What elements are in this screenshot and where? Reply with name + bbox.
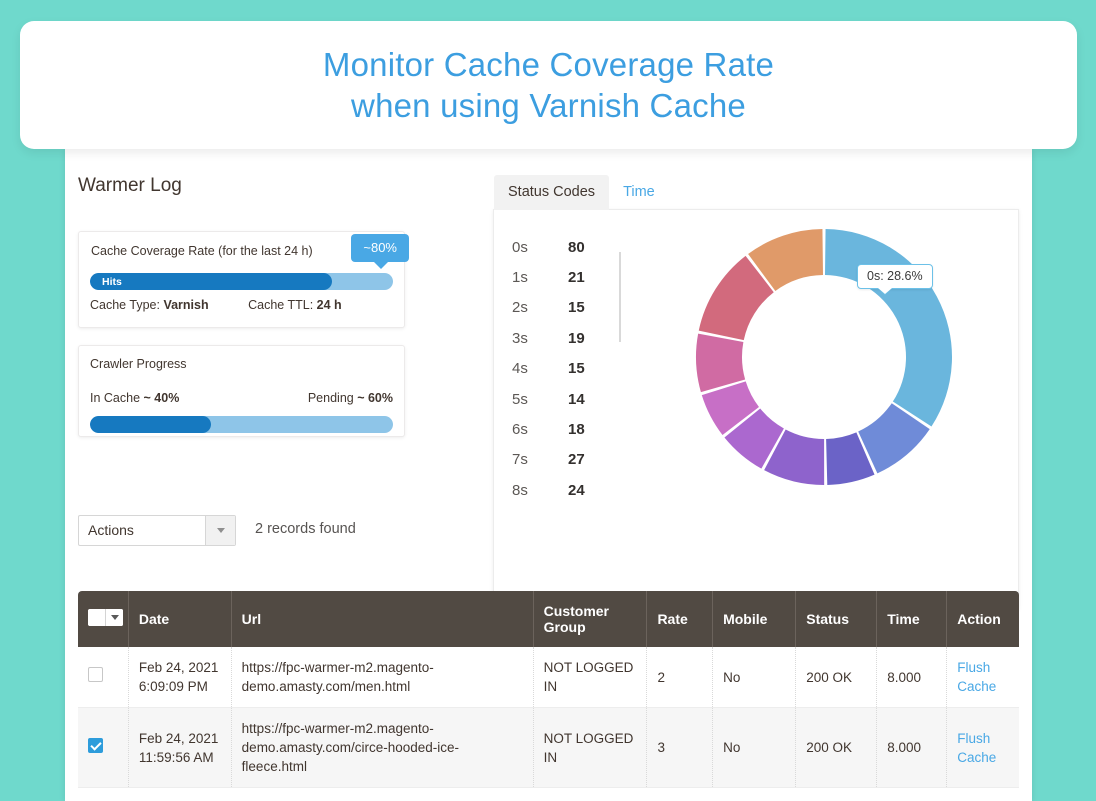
chart-tabs: Status CodesTime	[494, 170, 669, 210]
status-code-row: 7s27	[512, 445, 622, 475]
crawler-in-cache: In Cache ~ 40%	[90, 391, 179, 405]
cell-status: 200 OK	[796, 647, 877, 708]
table-header-action[interactable]: Action	[947, 591, 1019, 647]
flush-cache-link[interactable]: Flush Cache	[957, 660, 996, 694]
table-row[interactable]: Feb 24, 202111:59:56 AMhttps://fpc-warme…	[78, 708, 1019, 788]
actions-dropdown[interactable]: Actions	[78, 515, 236, 546]
table-header-rate[interactable]: Rate	[647, 591, 713, 647]
crawler-pending-label: Pending	[308, 391, 354, 405]
cell-url: https://fpc-warmer-m2.magento-demo.amast…	[231, 708, 533, 788]
status-code-key: 4s	[512, 360, 568, 377]
row-checkbox[interactable]	[88, 667, 103, 682]
status-code-value: 18	[568, 421, 585, 438]
table-header-customer-group[interactable]: Customer Group	[533, 591, 647, 647]
status-code-row: 0s80	[512, 232, 622, 262]
row-select-cell[interactable]	[78, 708, 128, 788]
status-code-value: 15	[568, 360, 585, 377]
actions-dropdown-label: Actions	[88, 522, 134, 538]
crawler-progress-card: Crawler Progress In Cache ~ 40% Pending …	[78, 345, 405, 437]
chevron-down-icon	[111, 615, 119, 620]
status-code-value: 27	[568, 451, 585, 468]
donut-segment[interactable]	[696, 334, 745, 392]
status-code-key: 2s	[512, 299, 568, 316]
table-header-mobile[interactable]: Mobile	[713, 591, 796, 647]
crawler-pending: Pending ~ 60%	[308, 391, 393, 405]
status-codes-list: 0s801s212s153s194s155s146s187s278s24	[512, 232, 622, 506]
status-code-value: 80	[568, 239, 585, 256]
flush-cache-link[interactable]: Flush Cache	[957, 731, 996, 765]
table-header-time[interactable]: Time	[877, 591, 947, 647]
cell-url: https://fpc-warmer-m2.magento-demo.amast…	[231, 647, 533, 708]
donut-center-hole	[754, 287, 894, 427]
status-code-row: 5s14	[512, 384, 622, 414]
warmer-log-table: Date Url Customer Group Rate Mobile Stat…	[78, 591, 1019, 788]
page-sheet: Warmer Log Cache Coverage Rate (for the …	[65, 148, 1032, 801]
cell-customer-group: NOT LOGGED IN	[533, 647, 647, 708]
cell-status: 200 OK	[796, 708, 877, 788]
tab-time[interactable]: Time	[609, 175, 669, 210]
cell-time: 8.000	[877, 708, 947, 788]
row-checkbox[interactable]	[88, 738, 103, 753]
select-all-checkbox[interactable]	[88, 609, 105, 626]
cache-type-label: Cache Type:	[90, 298, 160, 312]
cell-action: Flush Cache	[947, 708, 1019, 788]
table-row[interactable]: Feb 24, 20216:09:09 PMhttps://fpc-warmer…	[78, 647, 1019, 708]
page-title: Warmer Log	[78, 175, 182, 197]
status-code-row: 8s24	[512, 475, 622, 505]
status-code-value: 21	[568, 269, 585, 286]
status-code-row: 2s15	[512, 293, 622, 323]
cache-coverage-bar-fill	[90, 273, 332, 290]
status-code-value: 14	[568, 391, 585, 408]
crawler-pending-value: ~ 60%	[357, 391, 393, 405]
status-code-value: 15	[568, 299, 585, 316]
hero-title: Monitor Cache Coverage Rate when using V…	[323, 44, 774, 126]
row-select-cell[interactable]	[78, 647, 128, 708]
table-header-date[interactable]: Date	[128, 591, 231, 647]
cache-coverage-bar-label: Hits	[102, 274, 122, 290]
cache-ttl-value: 24 h	[317, 298, 342, 312]
cache-coverage-badge: ~80%	[351, 234, 409, 262]
status-code-value: 19	[568, 330, 585, 347]
actions-dropdown-toggle[interactable]	[205, 516, 235, 545]
cell-time: 8.000	[877, 647, 947, 708]
cell-mobile: No	[713, 708, 796, 788]
cell-mobile: No	[713, 647, 796, 708]
hero-banner: Monitor Cache Coverage Rate when using V…	[20, 21, 1077, 149]
status-code-key: 8s	[512, 482, 568, 499]
status-code-row: 3s19	[512, 323, 622, 353]
crawler-progress-bar-fill	[90, 416, 211, 433]
cache-coverage-bar: Hits	[90, 273, 393, 290]
crawler-in-cache-label: In Cache	[90, 391, 140, 405]
status-code-row: 6s18	[512, 414, 622, 444]
cache-coverage-card: Cache Coverage Rate (for the last 24 h) …	[78, 231, 405, 328]
cache-coverage-label: Cache Coverage Rate (for the last 24 h)	[91, 244, 313, 258]
table-header-select[interactable]	[78, 591, 128, 647]
crawler-in-cache-value: ~ 40%	[144, 391, 180, 405]
status-code-key: 5s	[512, 391, 568, 408]
status-code-key: 6s	[512, 421, 568, 438]
select-all-control[interactable]	[88, 609, 123, 626]
table-header-row: Date Url Customer Group Rate Mobile Stat…	[78, 591, 1019, 647]
status-code-row: 4s15	[512, 354, 622, 384]
status-code-key: 7s	[512, 451, 568, 468]
select-all-dropdown[interactable]	[105, 609, 123, 626]
records-found-text: 2 records found	[255, 521, 356, 537]
cell-rate: 2	[647, 647, 713, 708]
status-code-key: 0s	[512, 239, 568, 256]
table-header-url[interactable]: Url	[231, 591, 533, 647]
cell-action: Flush Cache	[947, 647, 1019, 708]
donut-tooltip: 0s: 28.6%	[857, 264, 933, 289]
status-code-value: 24	[568, 482, 585, 499]
cell-customer-group: NOT LOGGED IN	[533, 708, 647, 788]
cache-meta: Cache Type: Varnish Cache TTL: 24 h	[90, 298, 342, 312]
chart-panel: Status CodesTime 0s801s212s153s194s155s1…	[493, 209, 1019, 609]
cell-date: Feb 24, 20216:09:09 PM	[128, 647, 231, 708]
status-code-key: 1s	[512, 269, 568, 286]
cell-rate: 3	[647, 708, 713, 788]
cell-date: Feb 24, 202111:59:56 AM	[128, 708, 231, 788]
tab-status-codes[interactable]: Status Codes	[494, 175, 609, 210]
status-code-key: 3s	[512, 330, 568, 347]
crawler-progress-bar	[90, 416, 393, 433]
cache-ttl-label: Cache TTL:	[248, 298, 313, 312]
crawler-progress-title: Crawler Progress	[90, 357, 187, 371]
table-header-status[interactable]: Status	[796, 591, 877, 647]
list-scroll-indicator[interactable]	[619, 252, 621, 342]
status-code-row: 1s21	[512, 262, 622, 292]
donut-chart[interactable]: 0s: 28.6%	[689, 222, 959, 492]
cache-type-value: Varnish	[163, 298, 208, 312]
chevron-down-icon	[217, 528, 225, 533]
